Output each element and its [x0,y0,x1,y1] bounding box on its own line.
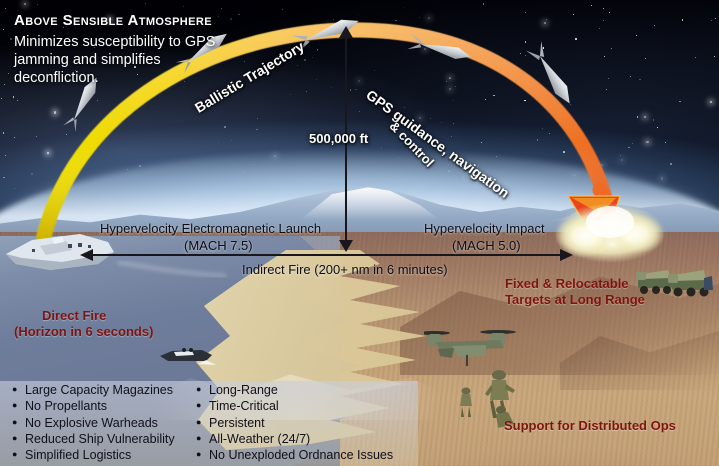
page-subtitle: Minimizes susceptibility to GPS jamming … [14,33,244,87]
page-title: Above Sensible Atmosphere [14,12,212,29]
distributed-ops-label: Support for Distributed Ops [504,418,676,433]
direct-fire-label-line1: Direct Fire [42,308,106,323]
benefit-item: Persistent [196,415,393,431]
benefits-column-left: Large Capacity MagazinesNo PropellantsNo… [12,382,175,463]
targets-label-line2: Targets at Long Range [505,292,645,307]
impact-label-line2: (MACH 5.0) [452,238,521,253]
patrol-boat-icon [158,344,216,366]
benefit-item: Simplified Logistics [12,447,175,463]
benefit-item: Reduced Ship Vulnerability [12,431,175,447]
ship-wake [118,262,226,276]
soldier-icon-2 [455,386,477,418]
range-arrow-left [80,249,93,261]
benefit-item: No Unexploded Ordnance Issues [196,447,393,463]
altitude-arrow-down [339,240,353,252]
indirect-fire-label: Indirect Fire (200+ nm in 6 minutes) [242,262,448,277]
launch-label-line1: Hypervelocity Electromagnetic Launch [100,221,321,236]
impact-label-line1: Hypervelocity Impact [424,221,545,236]
benefit-item: No Explosive Warheads [12,415,175,431]
launch-label-line2: (MACH 7.5) [184,238,253,253]
benefit-item: Large Capacity Magazines [12,382,175,398]
targets-label-line1: Fixed & Relocatable [505,276,629,291]
range-axis-line [92,254,562,256]
direct-fire-label-line2: (Horizon in 6 seconds) [14,324,153,339]
tiltrotor-osprey-icon [424,328,520,366]
benefit-item: Time-Critical [196,398,393,414]
benefit-item: Long-Range [196,382,393,398]
missile-launcher-vehicle-icon [634,262,714,302]
altitude-label: 500,000 ft [309,131,368,146]
infographic-canvas: Above Sensible Atmosphere Minimizes susc… [0,0,719,466]
benefit-item: No Propellants [12,398,175,414]
altitude-arrow-up [339,26,353,38]
range-arrow-right [560,249,573,261]
benefits-column-right: Long-RangeTime-CriticalPersistentAll-Wea… [196,382,393,463]
benefit-item: All-Weather (24/7) [196,431,393,447]
